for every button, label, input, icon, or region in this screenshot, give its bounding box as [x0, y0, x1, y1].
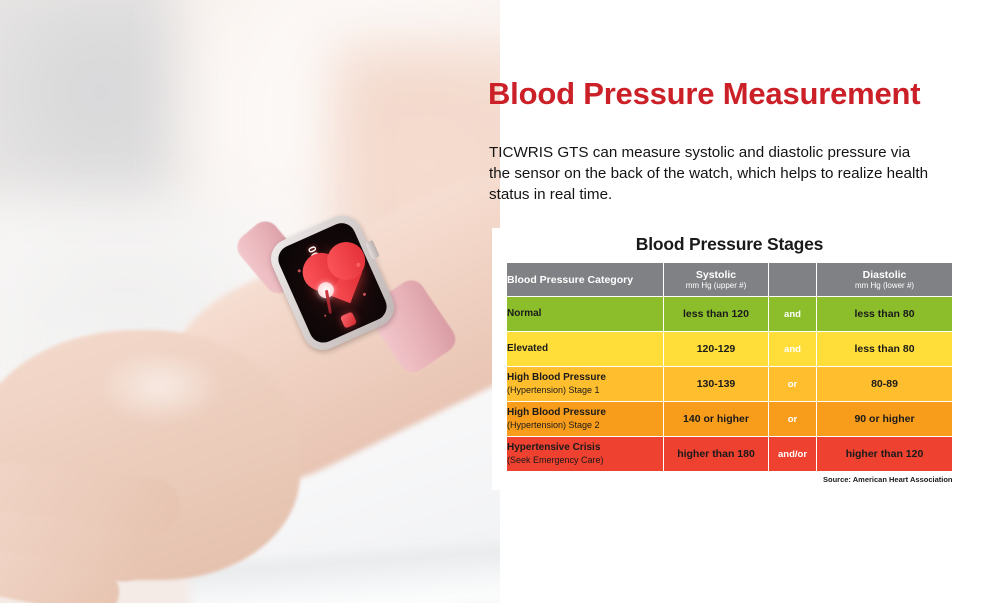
col-header-systolic-sub: mm Hg (upper #) — [664, 281, 768, 291]
spark-dot-icon — [297, 269, 301, 273]
cell-diastolic: higher than 120 — [817, 437, 953, 472]
cell-systolic: 120-129 — [664, 332, 769, 367]
cell-systolic: higher than 180 — [664, 437, 769, 472]
cell-category: Normal — [507, 297, 664, 332]
table-title: Blood Pressure Stages — [492, 228, 967, 255]
col-header-diastolic-sub: mm Hg (lower #) — [817, 281, 952, 291]
table-row: High Blood Pressure(Hypertension) Stage … — [507, 402, 953, 437]
page-title: Blood Pressure Measurement — [488, 76, 988, 112]
table-source-note: Source: American Heart Association — [507, 475, 953, 484]
cell-systolic: 140 or higher — [664, 402, 769, 437]
cell-systolic: less than 120 — [664, 297, 769, 332]
table-row: Hypertensive Crisis(Seek Emergency Care)… — [507, 437, 953, 472]
spark-dot-icon — [324, 314, 327, 317]
cell-category-main: Elevated — [507, 343, 663, 355]
cell-category-sub: (Seek Emergency Care) — [507, 454, 663, 466]
content-panel: Blood Pressure Measurement TICWRIS GTS c… — [470, 0, 1000, 603]
table-header-row: Blood Pressure Category Systolic mm Hg (… — [507, 263, 953, 297]
cell-category-main: Normal — [507, 308, 663, 320]
product-photo: 135/90 — [0, 0, 500, 603]
cell-connector: or — [769, 367, 817, 402]
col-header-systolic: Systolic mm Hg (upper #) — [664, 263, 769, 297]
cell-category-sub: (Hypertension) Stage 2 — [507, 419, 663, 431]
spark-dot-icon — [362, 292, 366, 296]
cell-connector: and/or — [769, 437, 817, 472]
table-row: High Blood Pressure(Hypertension) Stage … — [507, 367, 953, 402]
table-row: Elevated120-129andless than 80 — [507, 332, 953, 367]
col-header-diastolic: Diastolic mm Hg (lower #) — [817, 263, 953, 297]
table-body: Normalless than 120andless than 80Elevat… — [507, 297, 953, 472]
cell-category-main: Hypertensive Crisis — [507, 442, 663, 454]
blood-pressure-table: Blood Pressure Category Systolic mm Hg (… — [506, 262, 953, 472]
table-row: Normalless than 120andless than 80 — [507, 297, 953, 332]
cell-category-sub: (Hypertension) Stage 1 — [507, 384, 663, 396]
cell-category: Hypertensive Crisis(Seek Emergency Care) — [507, 437, 664, 472]
cell-diastolic: 80-89 — [817, 367, 953, 402]
cell-category: High Blood Pressure(Hypertension) Stage … — [507, 367, 664, 402]
cell-category-main: High Blood Pressure — [507, 372, 663, 384]
cell-connector: and — [769, 332, 817, 367]
blood-pressure-stages-card: Blood Pressure Stages Blood Pressure Cat… — [492, 228, 967, 490]
cell-systolic: 130-139 — [664, 367, 769, 402]
cell-connector: and — [769, 297, 817, 332]
cell-connector: or — [769, 402, 817, 437]
col-header-diastolic-main: Diastolic — [817, 269, 952, 281]
watch-screen[interactable]: 135/90 — [274, 219, 391, 347]
col-header-connector — [769, 263, 817, 297]
cell-diastolic: 90 or higher — [817, 402, 953, 437]
description-text: TICWRIS GTS can measure systolic and dia… — [489, 142, 934, 205]
hand-highlight — [95, 355, 225, 425]
cell-diastolic: less than 80 — [817, 297, 953, 332]
table-header: Blood Pressure Category Systolic mm Hg (… — [507, 263, 953, 297]
measure-button-icon[interactable] — [340, 311, 357, 328]
col-header-systolic-main: Systolic — [664, 269, 768, 281]
cell-category: Elevated — [507, 332, 664, 367]
cell-category: High Blood Pressure(Hypertension) Stage … — [507, 402, 664, 437]
cell-category-main: High Blood Pressure — [507, 407, 663, 419]
col-header-category: Blood Pressure Category — [507, 263, 664, 297]
cell-diastolic: less than 80 — [817, 332, 953, 367]
